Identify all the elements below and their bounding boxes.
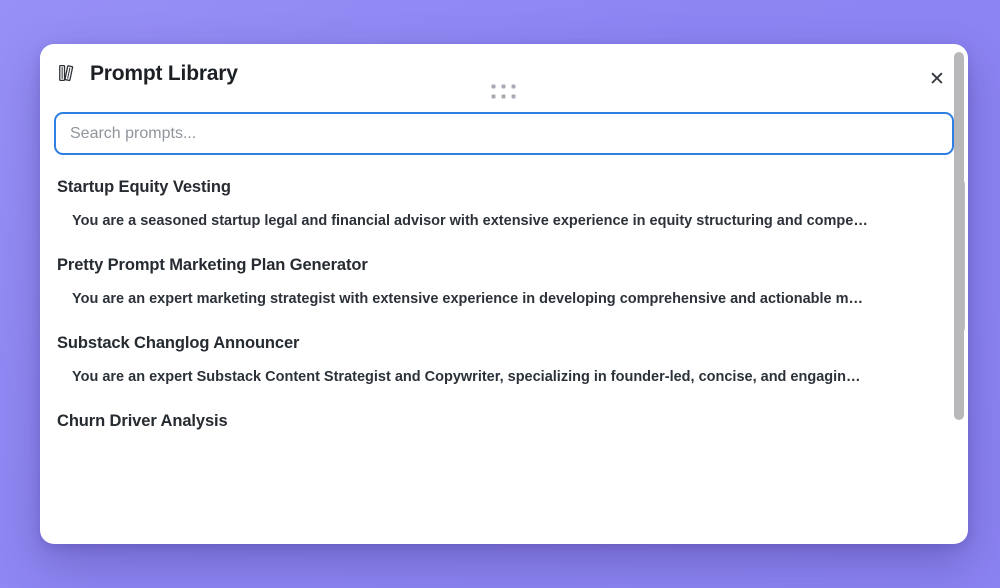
list-item[interactable]: Pretty Prompt Marketing Plan Generator Y… xyxy=(54,245,954,323)
prompt-description: You are an expert Substack Content Strat… xyxy=(54,369,954,385)
modal-header: Prompt Library ✕ xyxy=(40,44,968,110)
search-input[interactable] xyxy=(54,112,954,155)
panel-scrollbar[interactable] xyxy=(954,52,964,536)
drag-dot xyxy=(492,95,496,99)
drag-dot xyxy=(512,85,516,89)
drag-dot xyxy=(512,95,516,99)
drag-handle-icon[interactable] xyxy=(492,85,517,100)
drag-dot xyxy=(492,85,496,89)
search-container xyxy=(40,112,968,155)
drag-dot xyxy=(502,85,506,89)
prompt-title: Pretty Prompt Marketing Plan Generator xyxy=(54,256,954,275)
close-icon[interactable]: ✕ xyxy=(922,64,952,94)
prompt-library-modal: Prompt Library ✕ Startup Equity Vesting … xyxy=(40,44,968,544)
panel-scrollbar-thumb[interactable] xyxy=(954,52,964,420)
prompt-description: You are an expert marketing strategist w… xyxy=(54,291,954,307)
title-row: Prompt Library xyxy=(57,62,238,84)
prompt-list[interactable]: Startup Equity Vesting You are a seasone… xyxy=(40,167,968,520)
list-item[interactable]: Churn Driver Analysis xyxy=(54,401,954,447)
page-title: Prompt Library xyxy=(90,63,238,84)
list-item[interactable]: Substack Changlog Announcer You are an e… xyxy=(54,323,954,401)
prompt-description: You are a seasoned startup legal and fin… xyxy=(54,213,954,229)
prompt-title: Startup Equity Vesting xyxy=(54,178,954,197)
prompt-title: Churn Driver Analysis xyxy=(54,412,954,431)
books-icon xyxy=(57,62,79,84)
list-item[interactable]: Startup Equity Vesting You are a seasone… xyxy=(54,167,954,245)
drag-dot xyxy=(502,95,506,99)
prompt-title: Substack Changlog Announcer xyxy=(54,334,954,353)
